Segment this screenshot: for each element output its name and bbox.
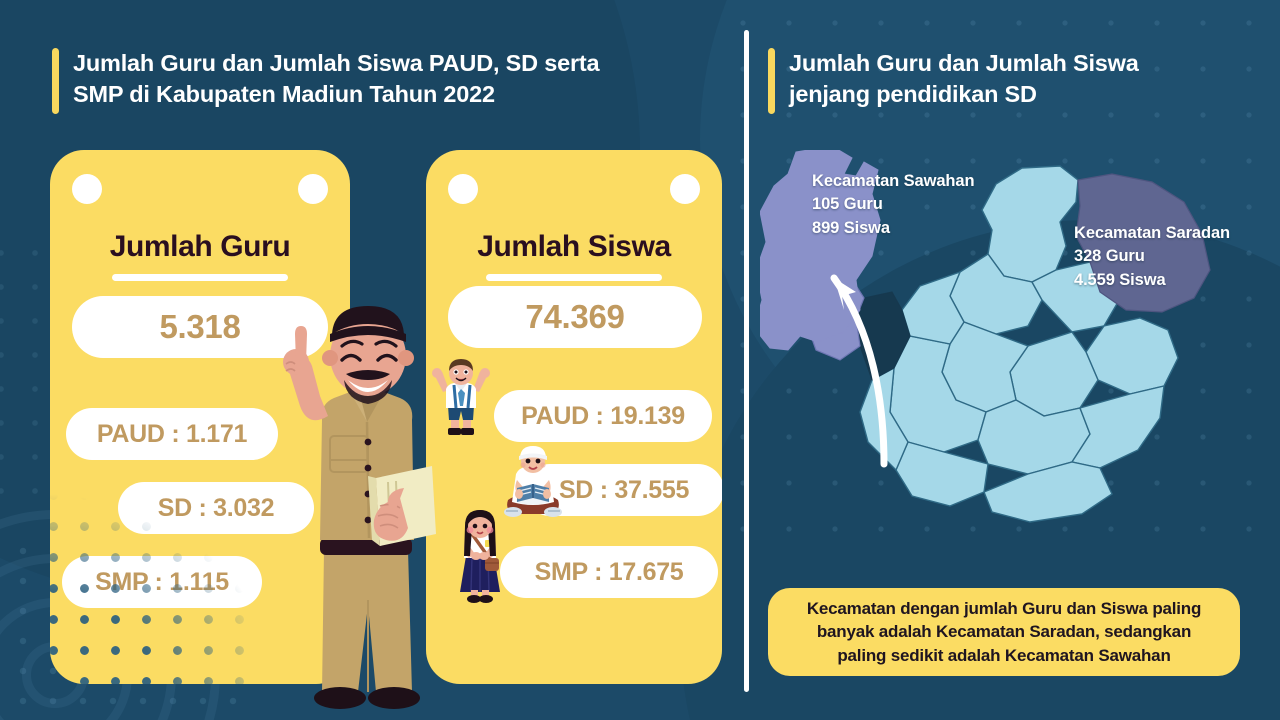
map-caption-box: Kecamatan dengan jumlah Guru dan Siswa p…: [768, 588, 1240, 676]
student-reading-illustration-icon: [500, 444, 566, 522]
right-panel-header: Jumlah Guru dan Jumlah Siswa jenjang pen…: [768, 48, 1238, 114]
panel-divider: [744, 30, 749, 692]
card-siswa-underline: [486, 274, 662, 281]
left-panel-header: Jumlah Guru dan Jumlah Siswa PAUD, SD se…: [52, 48, 712, 114]
right-panel-title: Jumlah Guru dan Jumlah Siswa jenjang pen…: [789, 48, 1139, 111]
card-guru-underline: [112, 274, 288, 281]
card-siswa-title: Jumlah Siswa: [426, 230, 722, 264]
map-label-sawahan: Kecamatan Sawahan 105 Guru 899 Siswa: [812, 170, 974, 240]
punch-hole-icon: [448, 174, 478, 204]
card-guru-item-paud: PAUD : 1.171: [66, 408, 278, 460]
map-caption-text: Kecamatan dengan jumlah Guru dan Siswa p…: [807, 597, 1201, 667]
map-label-saradan: Kecamatan Saradan 328 Guru 4.559 Siswa: [1074, 222, 1230, 292]
student-boy-illustration-icon: [430, 358, 492, 438]
card-siswa-total: 74.369: [448, 286, 702, 348]
punch-hole-icon: [298, 174, 328, 204]
left-panel-title: Jumlah Guru dan Jumlah Siswa PAUD, SD se…: [73, 48, 599, 111]
student-girl-illustration-icon: [452, 508, 508, 604]
punch-hole-icon: [670, 174, 700, 204]
card-guru-dot-texture: [50, 480, 258, 684]
card-siswa-item-smp: SMP : 17.675: [500, 546, 718, 598]
header-accent-bar: [768, 48, 775, 114]
card-siswa-item-paud: PAUD : 19.139: [494, 390, 712, 442]
punch-hole-icon: [72, 174, 102, 204]
header-accent-bar: [52, 48, 59, 114]
card-guru-title: Jumlah Guru: [50, 230, 350, 264]
